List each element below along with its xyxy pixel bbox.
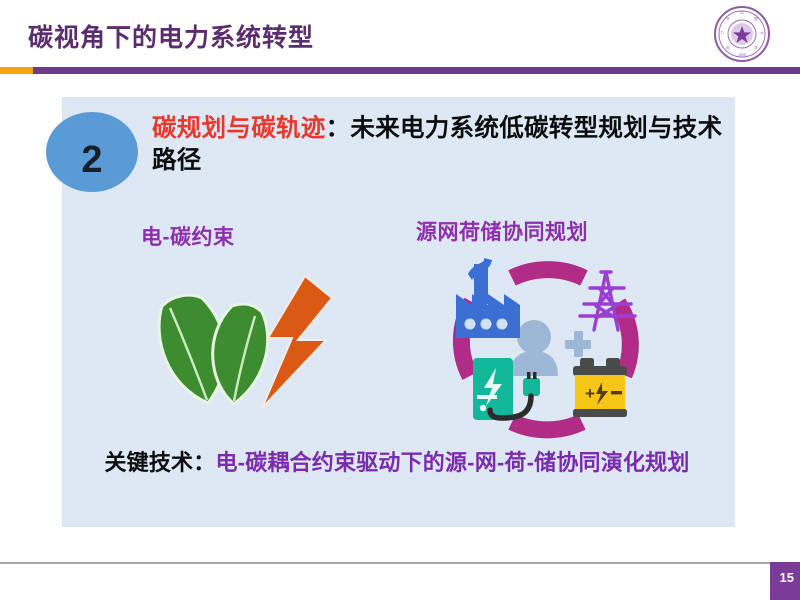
svg-text:电: 电 — [726, 45, 730, 50]
label-electricity-carbon-constraint: 电-碳约束 — [141, 221, 235, 251]
headline-highlight: 碳规划与碳轨迹 — [152, 115, 326, 142]
key-technology-statement: 关键技术：电-碳耦合约束驱动下的源-网-荷-储协同演化规划 — [82, 448, 712, 478]
lightning-bolt — [262, 276, 332, 408]
arc-top — [512, 270, 584, 278]
header-divider-orange-accent — [0, 67, 33, 74]
svg-text:学: 学 — [754, 45, 758, 50]
key-tech-body: 电-碳耦合约束驱动下的源-网-荷-储协同演化规划 — [215, 450, 689, 475]
section-number-text: 2 — [81, 125, 102, 179]
university-seal-logo: 中 国 大 学 1905 电 力 华 — [712, 4, 772, 64]
leaf-and-lightning-icon — [150, 268, 345, 423]
battery-icon: + — [573, 358, 627, 417]
source-grid-load-storage-cycle-diagram: + — [428, 258, 668, 443]
key-tech-prefix: 关键技术： — [104, 450, 215, 475]
footer-divider — [0, 562, 800, 564]
page-number: 15 — [780, 570, 794, 585]
svg-text:大: 大 — [760, 30, 764, 35]
svg-text:+: + — [585, 384, 595, 403]
svg-text:华: 华 — [726, 16, 730, 21]
slide-header: 碳视角下的电力系统转型 中 国 大 学 1905 电 力 华 — [0, 0, 800, 75]
leaf-right — [213, 304, 268, 404]
arc-bottom — [512, 422, 582, 430]
header-divider-purple — [0, 67, 800, 74]
section-number-badge: 2 — [46, 112, 138, 192]
presentation-slide: 碳视角下的电力系统转型 中 国 大 学 1905 电 力 华 — [0, 0, 800, 600]
svg-text:1905: 1905 — [738, 53, 746, 57]
page-title: 碳视角下的电力系统转型 — [28, 18, 314, 54]
svg-text:力: 力 — [720, 30, 724, 35]
section-headline: 碳规划与碳轨迹：未来电力系统低碳转型规划与技术路径 — [152, 113, 727, 178]
label-source-grid-load-storage-planning: 源网荷储协同规划 — [416, 216, 588, 246]
